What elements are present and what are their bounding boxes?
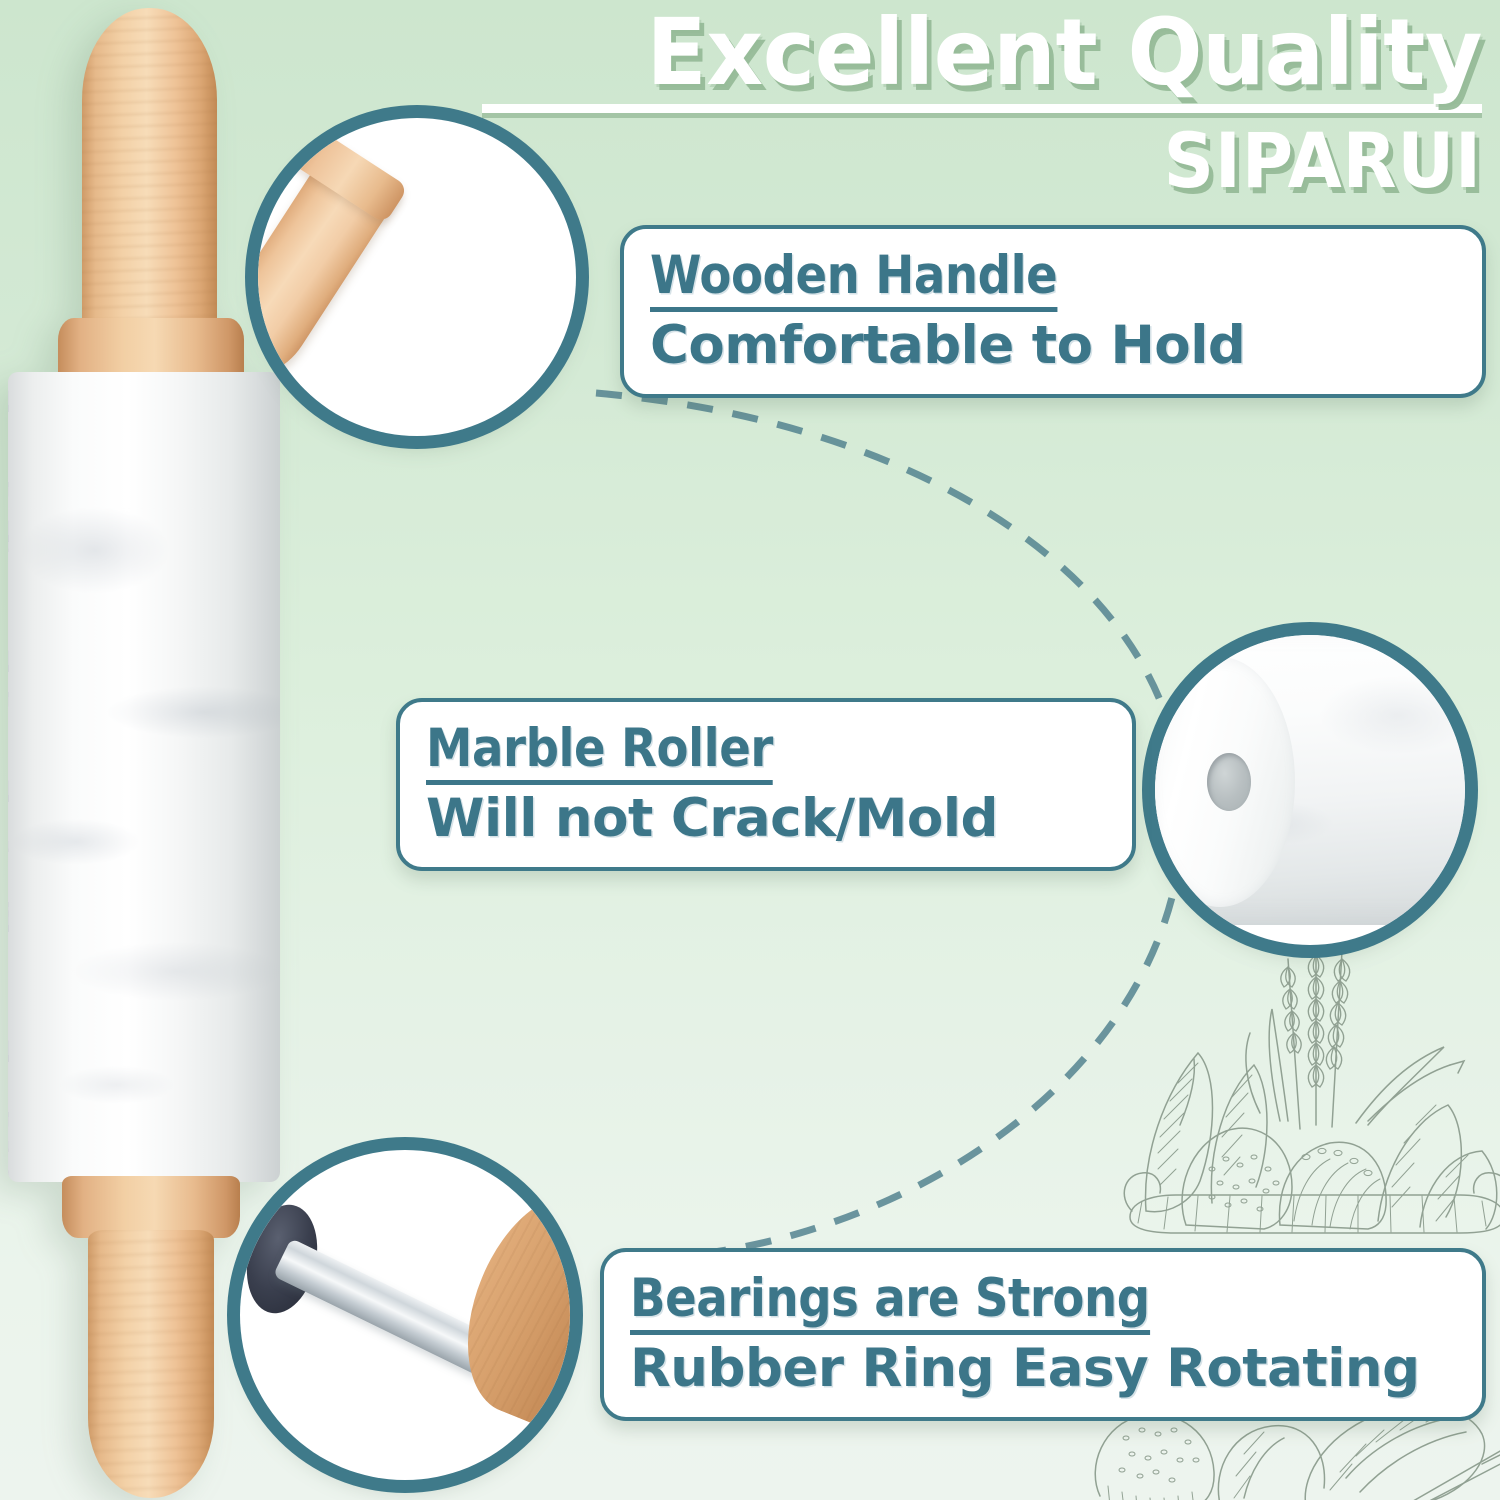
callout-line-2: Rubber Ring Easy Rotating	[630, 1340, 1456, 1397]
callout-line-2: Will not Crack/Mold	[426, 790, 1106, 847]
callout-subtext: Rubber Ring Easy Rotating	[630, 1338, 1420, 1399]
rolling-pin-marble-roller	[8, 372, 280, 1182]
inset-bearing-photo	[240, 1150, 570, 1480]
callout-heading: Wooden Handle	[650, 247, 1057, 312]
callout-line-1: Bearings are Strong	[630, 1270, 1456, 1340]
callout-subtext: Will not Crack/Mold	[426, 788, 998, 849]
steel-rod	[273, 1238, 498, 1377]
marble-center-hole	[1207, 753, 1251, 811]
inset-wooden-handle-photo	[258, 118, 576, 436]
callout-heading: Bearings are Strong	[630, 1270, 1150, 1335]
inset-wooden-handle	[258, 118, 576, 436]
rolling-pin-collar-bottom	[62, 1176, 240, 1238]
callout-line-1: Marble Roller	[426, 720, 1106, 790]
callout-heading: Marble Roller	[426, 720, 773, 785]
rolling-pin-handle-top	[82, 8, 217, 368]
callout-subtext: Comfortable to Hold	[650, 315, 1245, 376]
callout-line-2: Comfortable to Hold	[650, 317, 1456, 374]
page-title: Excellent Quality	[522, 8, 1482, 98]
callout-line-1: Wooden Handle	[650, 247, 1456, 317]
callout-wooden-handle: Wooden Handle Comfortable to Hold	[620, 225, 1486, 398]
rolling-pin-handle-bottom	[88, 1230, 214, 1498]
inset-bearing-rubber-ring	[240, 1150, 570, 1480]
headline-block: Excellent Quality SIPARUI	[482, 8, 1482, 199]
handle-wood-end	[438, 1172, 570, 1441]
callout-bearings: Bearings are Strong Rubber Ring Easy Rot…	[600, 1248, 1486, 1421]
infographic-canvas: Excellent Quality SIPARUI	[0, 0, 1500, 1500]
inset-marble-roller-end	[1155, 635, 1465, 945]
bread-basket-engraving	[1120, 925, 1500, 1235]
brand-name: SIPARUI	[562, 123, 1482, 199]
inset-marble-roller-photo	[1155, 635, 1465, 945]
callout-marble-roller: Marble Roller Will not Crack/Mold	[396, 698, 1136, 871]
